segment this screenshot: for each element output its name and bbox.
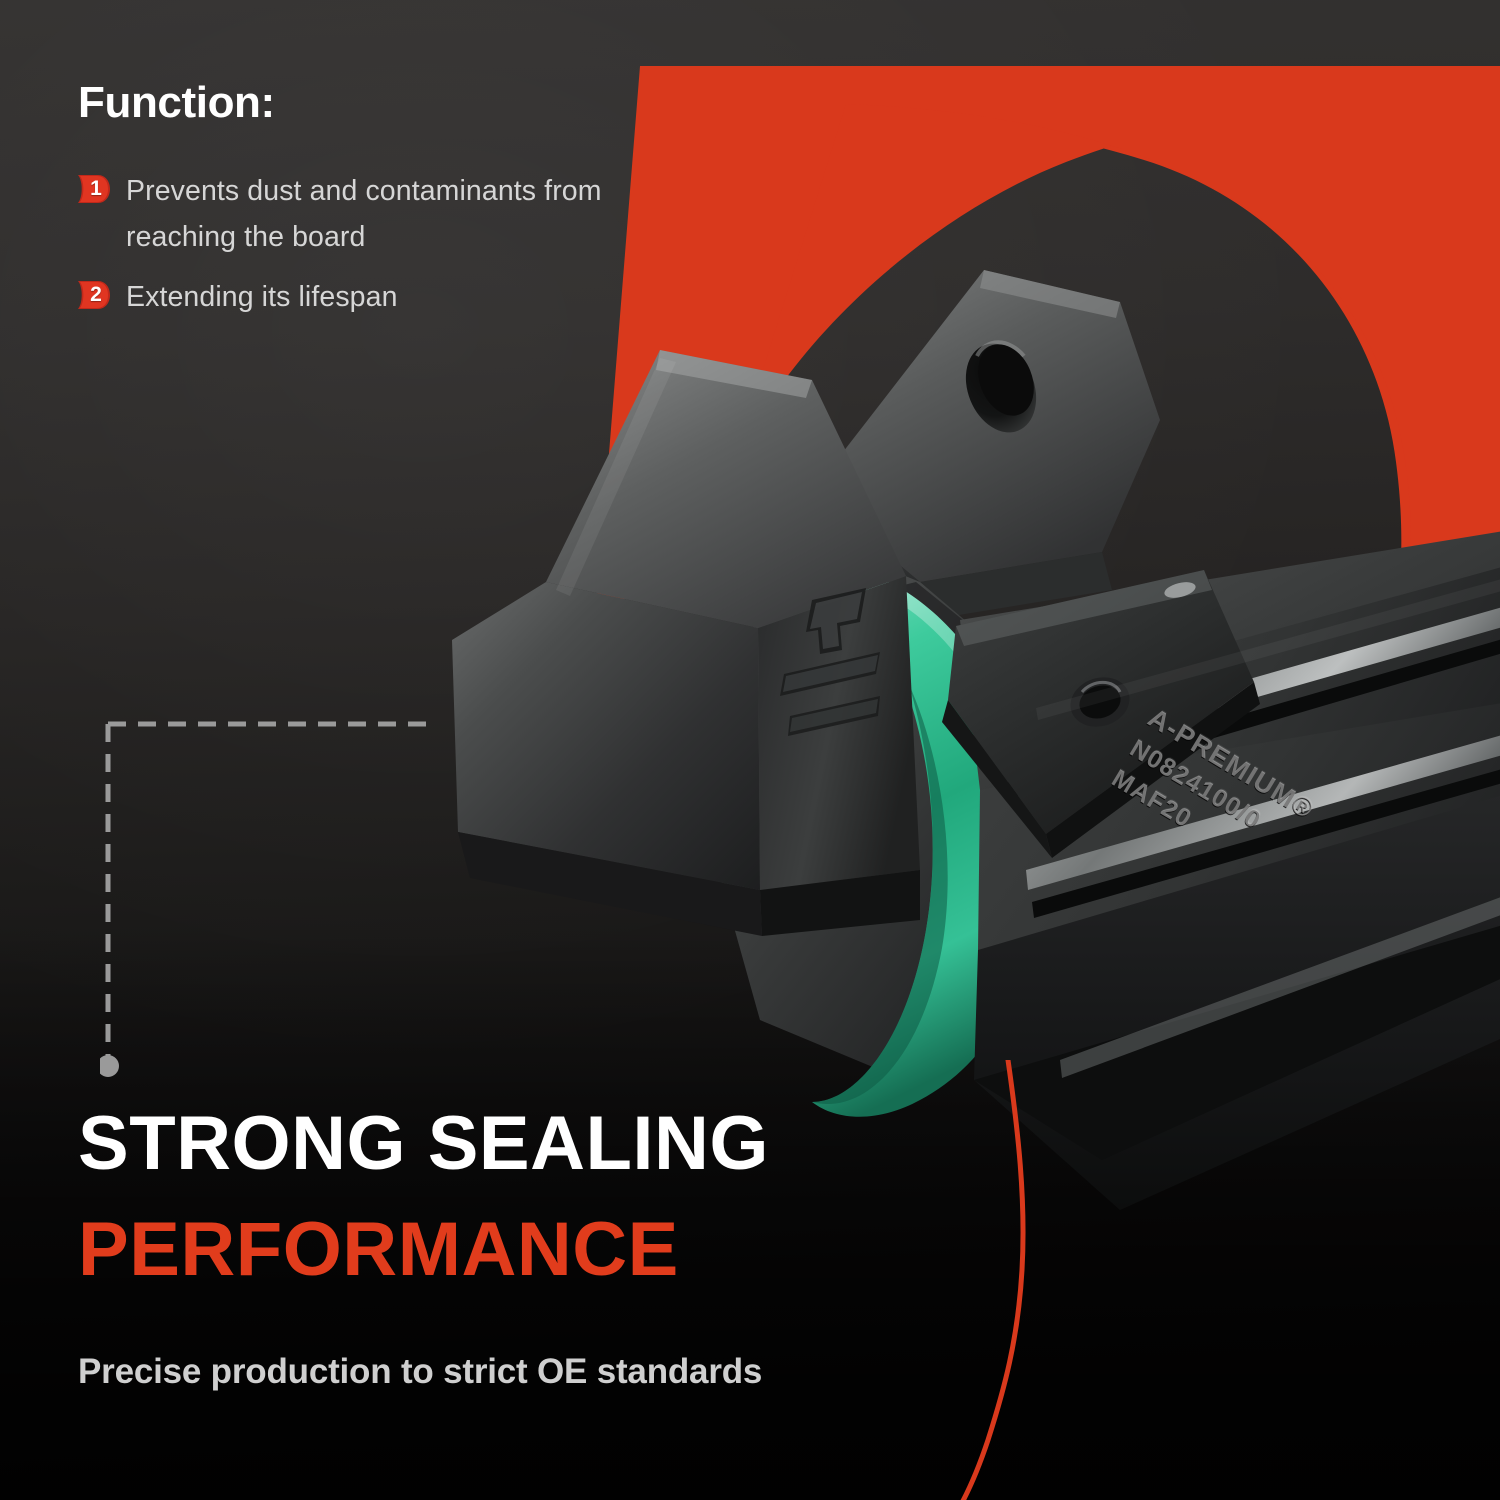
headline-subtitle: Precise production to strict OE standard… [78,1352,762,1392]
page-title: Function: [78,78,275,128]
list-item-label: Extending its lifespan [126,274,398,320]
red-thread-accent [900,1060,1140,1500]
connector-housing [452,350,920,936]
callout-endpoint-dot [100,1055,119,1077]
badge-number: 2 [78,278,110,312]
headline-line-2: PERFORMANCE [78,1212,679,1288]
product-feature-graphic: Function: 1 Prevents dust and contaminan… [0,0,1500,1500]
headline-line-1: STRONG SEALING [78,1106,769,1182]
number-badge-icon: 2 [78,278,110,312]
number-badge-icon: 1 [78,172,110,206]
callout-leader [100,718,440,1080]
badge-number: 1 [78,172,110,206]
